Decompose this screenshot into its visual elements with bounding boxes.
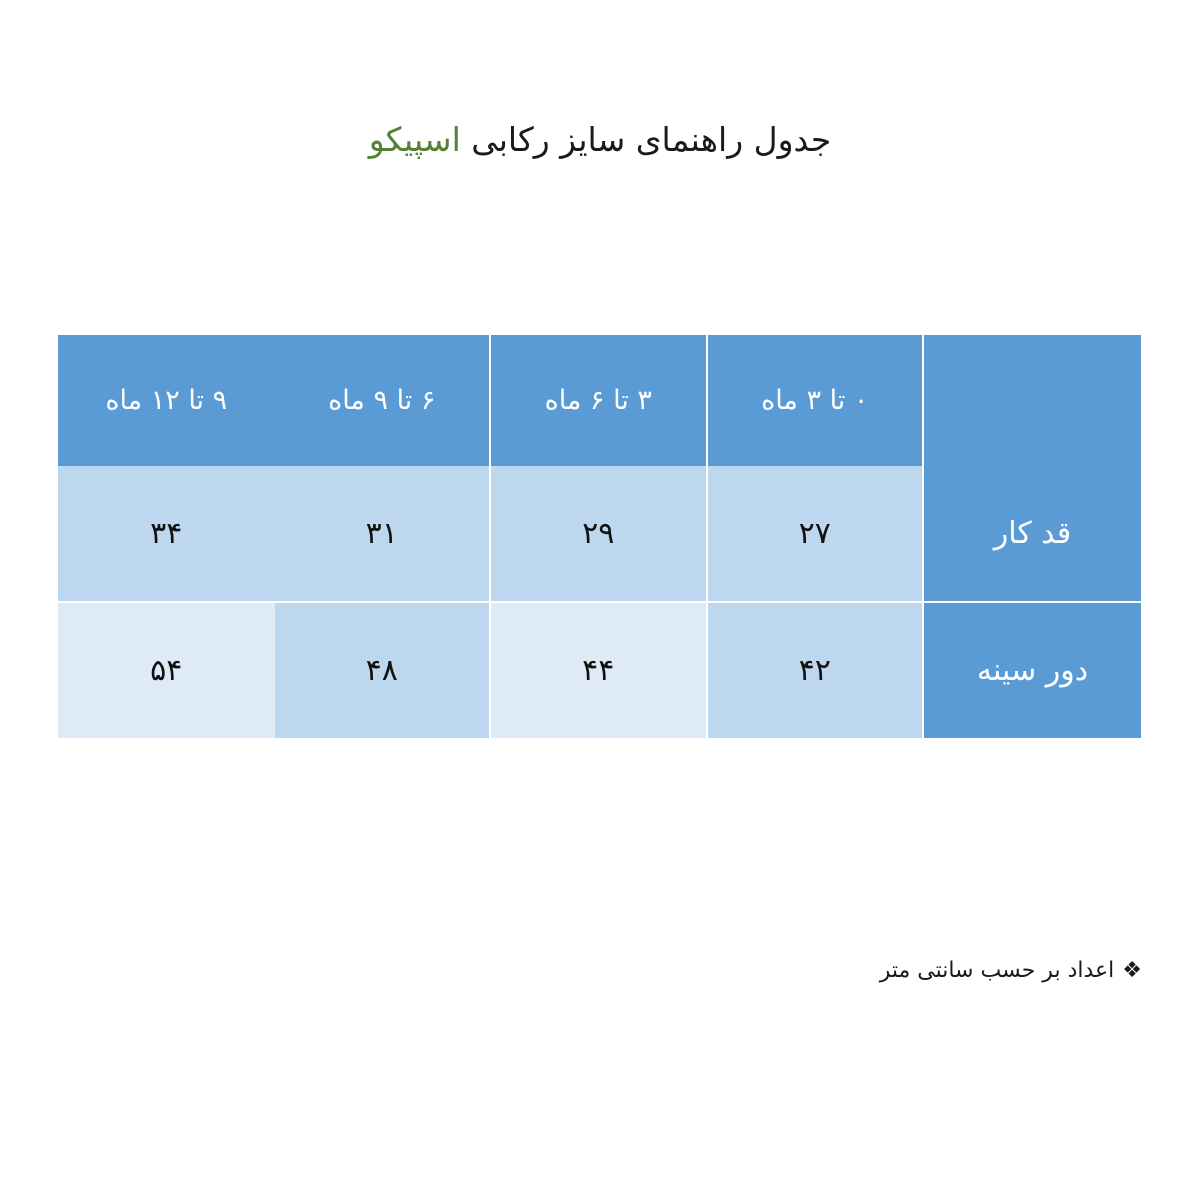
size-chart-table: ۰ تا ۳ ماه ۳ تا ۶ ماه ۶ تا ۹ ماه ۹ تا ۱۲… <box>58 335 1143 738</box>
brand-name: اسپیکو <box>369 120 461 159</box>
cell-chest-0-3: ۴۲ <box>708 603 925 738</box>
column-header-6-9-months: ۶ تا ۹ ماه <box>275 335 492 466</box>
diamond-bullet-icon: ❖ <box>1122 960 1142 982</box>
unit-footnote-text: اعداد بر حسب سانتی متر <box>880 958 1115 983</box>
row-label-length: قد کار <box>924 466 1143 603</box>
table-row: قد کار ۲۷ ۲۹ ۳۱ ۳۴ <box>58 466 1143 603</box>
cell-length-6-9: ۳۱ <box>275 466 492 603</box>
column-header-9-12-months: ۹ تا ۱۲ ماه <box>58 335 275 466</box>
table-body: قد کار ۲۷ ۲۹ ۳۱ ۳۴ دور سینه ۴۲ ۴۴ ۴۸ ۵۴ <box>58 466 1143 738</box>
table-header-row: ۰ تا ۳ ماه ۳ تا ۶ ماه ۶ تا ۹ ماه ۹ تا ۱۲… <box>58 335 1143 466</box>
table-header: ۰ تا ۳ ماه ۳ تا ۶ ماه ۶ تا ۹ ماه ۹ تا ۱۲… <box>58 335 1143 466</box>
page-title: جدول راهنمای سایز رکابی اسپیکو <box>369 118 832 163</box>
unit-footnote: ❖اعداد بر حسب سانتی متر <box>880 958 1142 983</box>
table-row: دور سینه ۴۲ ۴۴ ۴۸ ۵۴ <box>58 603 1143 738</box>
cell-length-9-12: ۳۴ <box>58 466 275 603</box>
column-header-3-6-months: ۳ تا ۶ ماه <box>491 335 708 466</box>
cell-chest-6-9: ۴۸ <box>275 603 492 738</box>
page-title-prefix: جدول راهنمای سایز رکابی <box>461 120 832 159</box>
row-label-chest: دور سینه <box>924 603 1143 738</box>
cell-chest-9-12: ۵۴ <box>58 603 275 738</box>
column-header-0-3-months: ۰ تا ۳ ماه <box>708 335 925 466</box>
cell-length-3-6: ۲۹ <box>491 466 708 603</box>
table-corner-cell <box>924 335 1143 466</box>
cell-chest-3-6: ۴۴ <box>491 603 708 738</box>
page-title-container: جدول راهنمای سایز رکابی اسپیکو <box>0 118 1200 163</box>
size-chart-container: ۰ تا ۳ ماه ۳ تا ۶ ماه ۶ تا ۹ ماه ۹ تا ۱۲… <box>58 335 1143 738</box>
cell-length-0-3: ۲۷ <box>708 466 925 603</box>
